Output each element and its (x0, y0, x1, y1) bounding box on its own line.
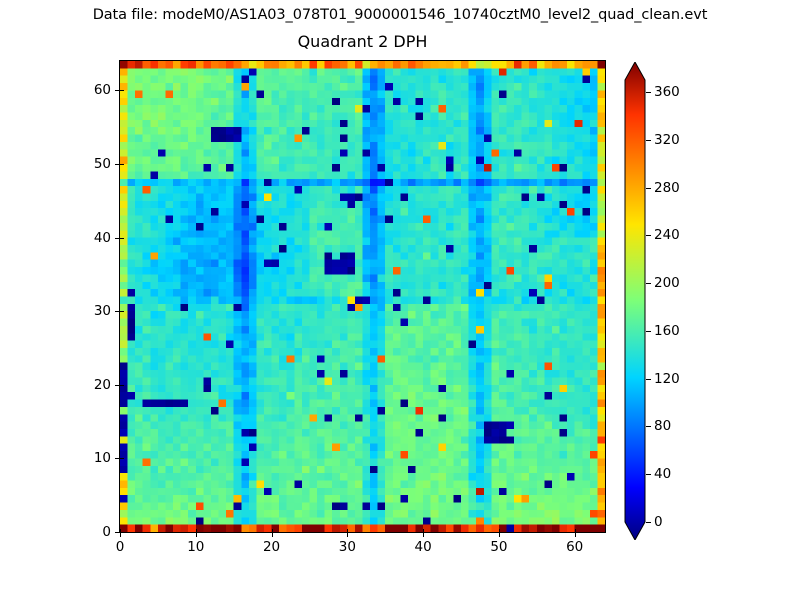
y-tick-mark-inner (120, 385, 124, 386)
x-tick-mark (272, 533, 273, 537)
heatmap-image[interactable] (120, 61, 605, 532)
y-tick-label: 20 (73, 377, 111, 393)
colorbar-tick-label: 320 (654, 132, 680, 148)
x-tick-mark-inner (347, 529, 348, 533)
y-tick-label: 10 (73, 450, 111, 466)
x-tick-mark (196, 533, 197, 537)
colorbar-tick-mark (646, 283, 651, 284)
y-tick-mark (115, 311, 119, 312)
colorbar-tick-mark (646, 426, 651, 427)
y-tick-label: 60 (73, 82, 111, 98)
x-tick-label: 30 (327, 539, 367, 555)
x-tick-mark (575, 533, 576, 537)
colorbar-tick-label: 0 (654, 514, 663, 530)
y-tick-label: 50 (73, 156, 111, 172)
x-tick-mark-inner (196, 529, 197, 533)
colorbar-tick-label: 80 (654, 418, 671, 434)
x-tick-mark-inner (499, 529, 500, 533)
colorbar-tick-mark (646, 92, 651, 93)
y-tick-label: 40 (73, 230, 111, 246)
data-file-suptitle: Data file: modeM0/AS1A03_078T01_90000015… (0, 6, 800, 24)
colorbar-tick-label: 280 (654, 180, 680, 196)
y-tick-mark-inner (120, 238, 124, 239)
x-tick-label: 20 (252, 539, 292, 555)
page-title: Quadrant 2 DPH (119, 32, 606, 52)
y-tick-label: 0 (73, 524, 111, 540)
x-tick-mark (120, 533, 121, 537)
y-tick-mark (115, 385, 119, 386)
colorbar-tick-mark (646, 235, 651, 236)
x-tick-label: 60 (555, 539, 595, 555)
y-tick-mark (115, 458, 119, 459)
x-tick-label: 40 (403, 539, 443, 555)
y-tick-mark-inner (120, 458, 124, 459)
x-tick-mark (499, 533, 500, 537)
colorbar-tick-label: 200 (654, 275, 680, 291)
colorbar-tick-mark (646, 522, 651, 523)
colorbar-tick-mark (646, 331, 651, 332)
heatmap-axes[interactable] (119, 60, 606, 533)
x-tick-label: 10 (176, 539, 216, 555)
y-tick-mark-inner (120, 311, 124, 312)
colorbar-tick-label: 160 (654, 323, 680, 339)
colorbar[interactable] (624, 62, 646, 540)
x-tick-mark-inner (272, 529, 273, 533)
y-tick-mark-inner (120, 90, 124, 91)
x-tick-label: 50 (479, 539, 519, 555)
colorbar-tick-label: 360 (654, 84, 680, 100)
colorbar-tick-mark (646, 188, 651, 189)
colorbar-tick-label: 240 (654, 227, 680, 243)
y-tick-label: 30 (73, 303, 111, 319)
y-tick-mark (115, 532, 119, 533)
colorbar-gradient (624, 62, 646, 540)
x-tick-mark (347, 533, 348, 537)
colorbar-tick-mark (646, 474, 651, 475)
y-tick-mark (115, 90, 119, 91)
colorbar-tick-mark (646, 379, 651, 380)
x-tick-mark-inner (575, 529, 576, 533)
x-tick-mark-inner (423, 529, 424, 533)
y-tick-mark-inner (120, 532, 124, 533)
x-tick-label: 0 (100, 539, 140, 555)
y-tick-mark (115, 164, 119, 165)
colorbar-tick-mark (646, 140, 651, 141)
colorbar-tick-label: 120 (654, 371, 680, 387)
x-tick-mark (423, 533, 424, 537)
y-tick-mark-inner (120, 164, 124, 165)
colorbar-tick-label: 40 (654, 466, 671, 482)
y-tick-mark (115, 238, 119, 239)
figure-canvas: Data file: modeM0/AS1A03_078T01_90000015… (0, 0, 800, 600)
